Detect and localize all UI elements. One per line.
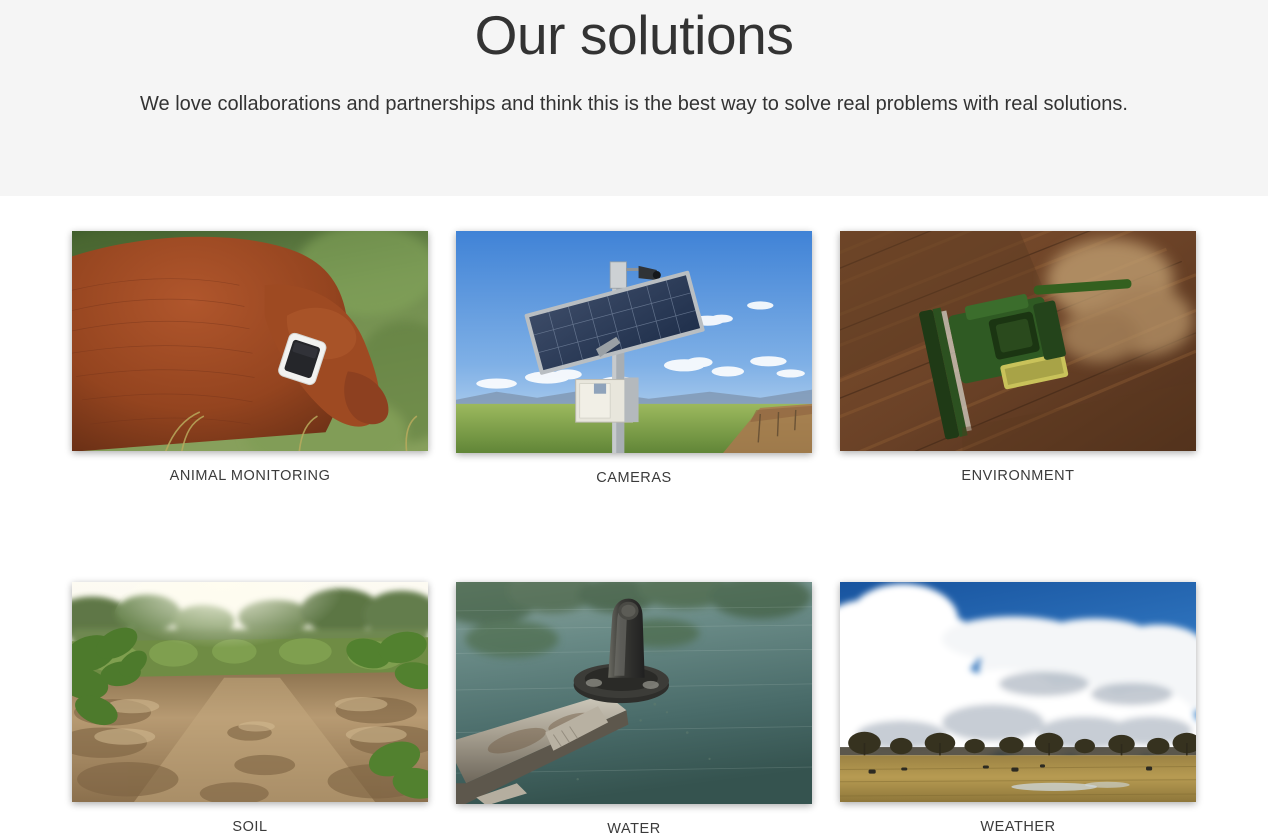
solution-label-environment: ENVIRONMENT <box>961 468 1074 485</box>
water-level-sensor-photo[interactable] <box>456 582 812 804</box>
camera-photo-graphic <box>456 231 812 453</box>
solar-camera-pole-photo[interactable] <box>456 231 812 453</box>
solution-card-animal-monitoring[interactable]: ANIMAL MONITORING <box>72 231 428 487</box>
hero-section: Our solutions We love collaborations and… <box>0 0 1268 196</box>
solution-label-soil: SOIL <box>232 819 267 836</box>
solution-label-weather: WEATHER <box>980 819 1055 836</box>
solution-label-cameras: CAMERAS <box>596 470 672 487</box>
cow-with-ear-tag-photo[interactable] <box>72 231 428 451</box>
storm-clouds-paddock-photo[interactable] <box>840 582 1196 802</box>
solutions-grid: ANIMAL MONITORING <box>0 196 1268 839</box>
page-title: Our solutions <box>475 6 794 65</box>
solution-card-environment[interactable]: ENVIRONMENT <box>840 231 1196 487</box>
solution-label-animal-monitoring: ANIMAL MONITORING <box>170 468 331 485</box>
solution-card-cameras[interactable]: CAMERAS <box>456 231 812 487</box>
solution-card-water[interactable]: WATER <box>456 582 812 838</box>
solution-label-water: WATER <box>607 821 661 838</box>
soil-furrow-crop-rows-photo[interactable] <box>72 582 428 802</box>
soil-photo-graphic <box>72 582 428 802</box>
solution-card-soil[interactable]: SOIL <box>72 582 428 838</box>
harvester-photo-graphic <box>840 231 1196 451</box>
weather-photo-graphic <box>840 582 1196 802</box>
aerial-combine-harvester-photo[interactable] <box>840 231 1196 451</box>
cow-photo-graphic <box>72 231 428 451</box>
page-subtitle: We love collaborations and partnerships … <box>140 91 1128 118</box>
water-photo-graphic <box>456 582 812 804</box>
solution-card-weather[interactable]: WEATHER <box>840 582 1196 838</box>
